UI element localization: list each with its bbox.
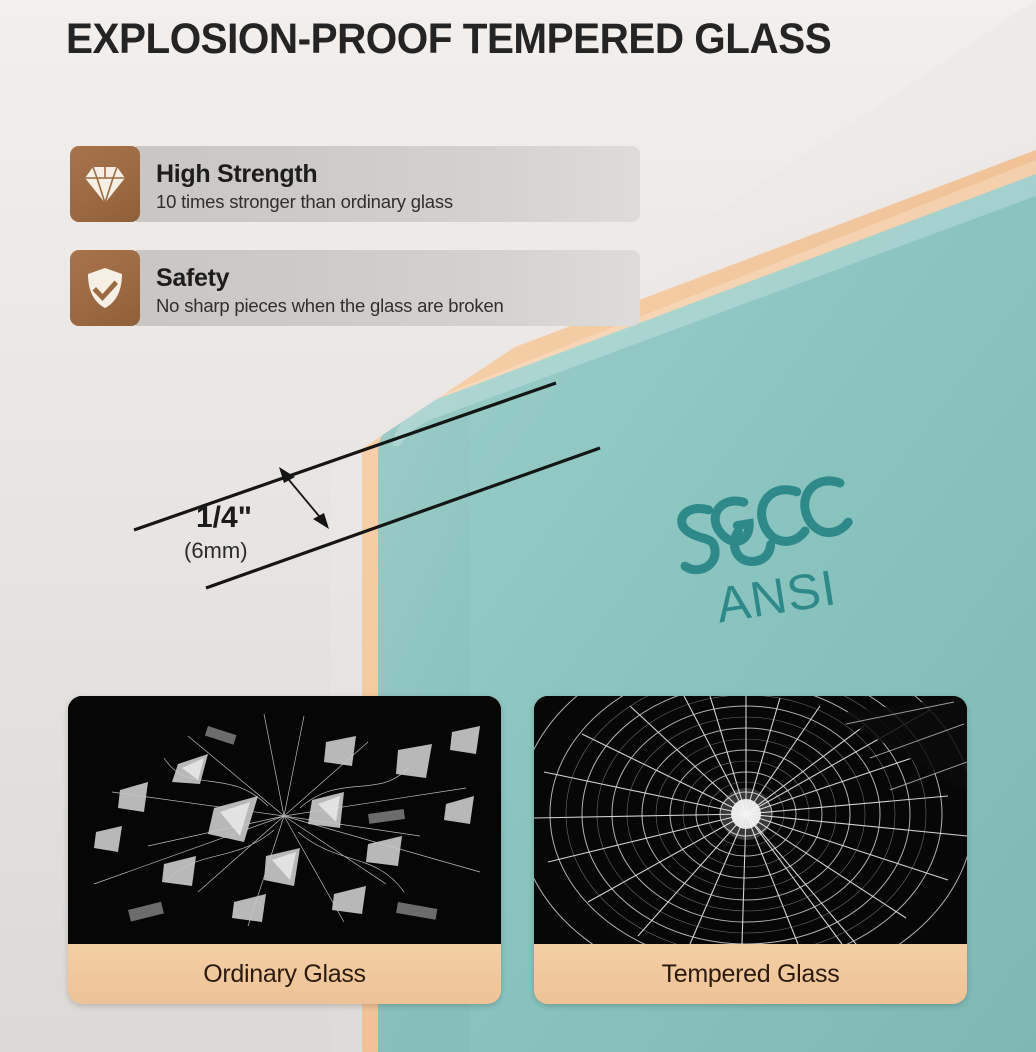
feature-title: High Strength — [156, 161, 626, 189]
tempered-glass-photo — [534, 696, 967, 944]
comparison-card-tempered-glass[interactable]: Tempered Glass — [534, 696, 967, 1004]
shield-check-icon — [85, 266, 125, 310]
spiderweb-crack-graphic — [534, 696, 967, 944]
certification-logo: ANSI — [660, 468, 860, 638]
feature-icon-tile — [70, 250, 140, 326]
page-title: EXPLOSION-PROOF TEMPERED GLASS — [66, 17, 831, 62]
diamond-icon — [83, 164, 127, 204]
shattered-shards-graphic — [68, 696, 501, 944]
sgcc-script-icon — [675, 479, 852, 573]
infographic-canvas: EXPLOSION-PROOF TEMPERED GLASS — [0, 0, 1036, 1052]
dimension-label: 1/4" (6mm) — [196, 503, 252, 562]
feature-text-block: Safety No sharp pieces when the glass ar… — [136, 250, 640, 326]
ordinary-glass-photo — [68, 696, 501, 944]
feature-subtitle: No sharp pieces when the glass are broke… — [156, 294, 626, 317]
feature-item-safety[interactable]: Safety No sharp pieces when the glass ar… — [70, 250, 640, 326]
feature-list: High Strength 10 times stronger than ord… — [70, 146, 640, 354]
feature-text-block: High Strength 10 times stronger than ord… — [136, 146, 640, 222]
feature-title: Safety — [156, 265, 626, 293]
comparison-card-ordinary-glass[interactable]: Ordinary Glass — [68, 696, 501, 1004]
feature-item-high-strength[interactable]: High Strength 10 times stronger than ord… — [70, 146, 640, 222]
sgcc-ansi-mark: ANSI — [660, 468, 860, 638]
comparison-section: Ordinary Glass — [0, 696, 1036, 1006]
dimension-imperial: 1/4" — [196, 503, 252, 533]
comparison-caption: Tempered Glass — [534, 944, 967, 1004]
comparison-caption: Ordinary Glass — [68, 944, 501, 1004]
ansi-text: ANSI — [712, 559, 840, 633]
feature-subtitle: 10 times stronger than ordinary glass — [156, 190, 626, 213]
dimension-metric: (6mm) — [184, 540, 252, 562]
feature-icon-tile — [70, 146, 140, 222]
